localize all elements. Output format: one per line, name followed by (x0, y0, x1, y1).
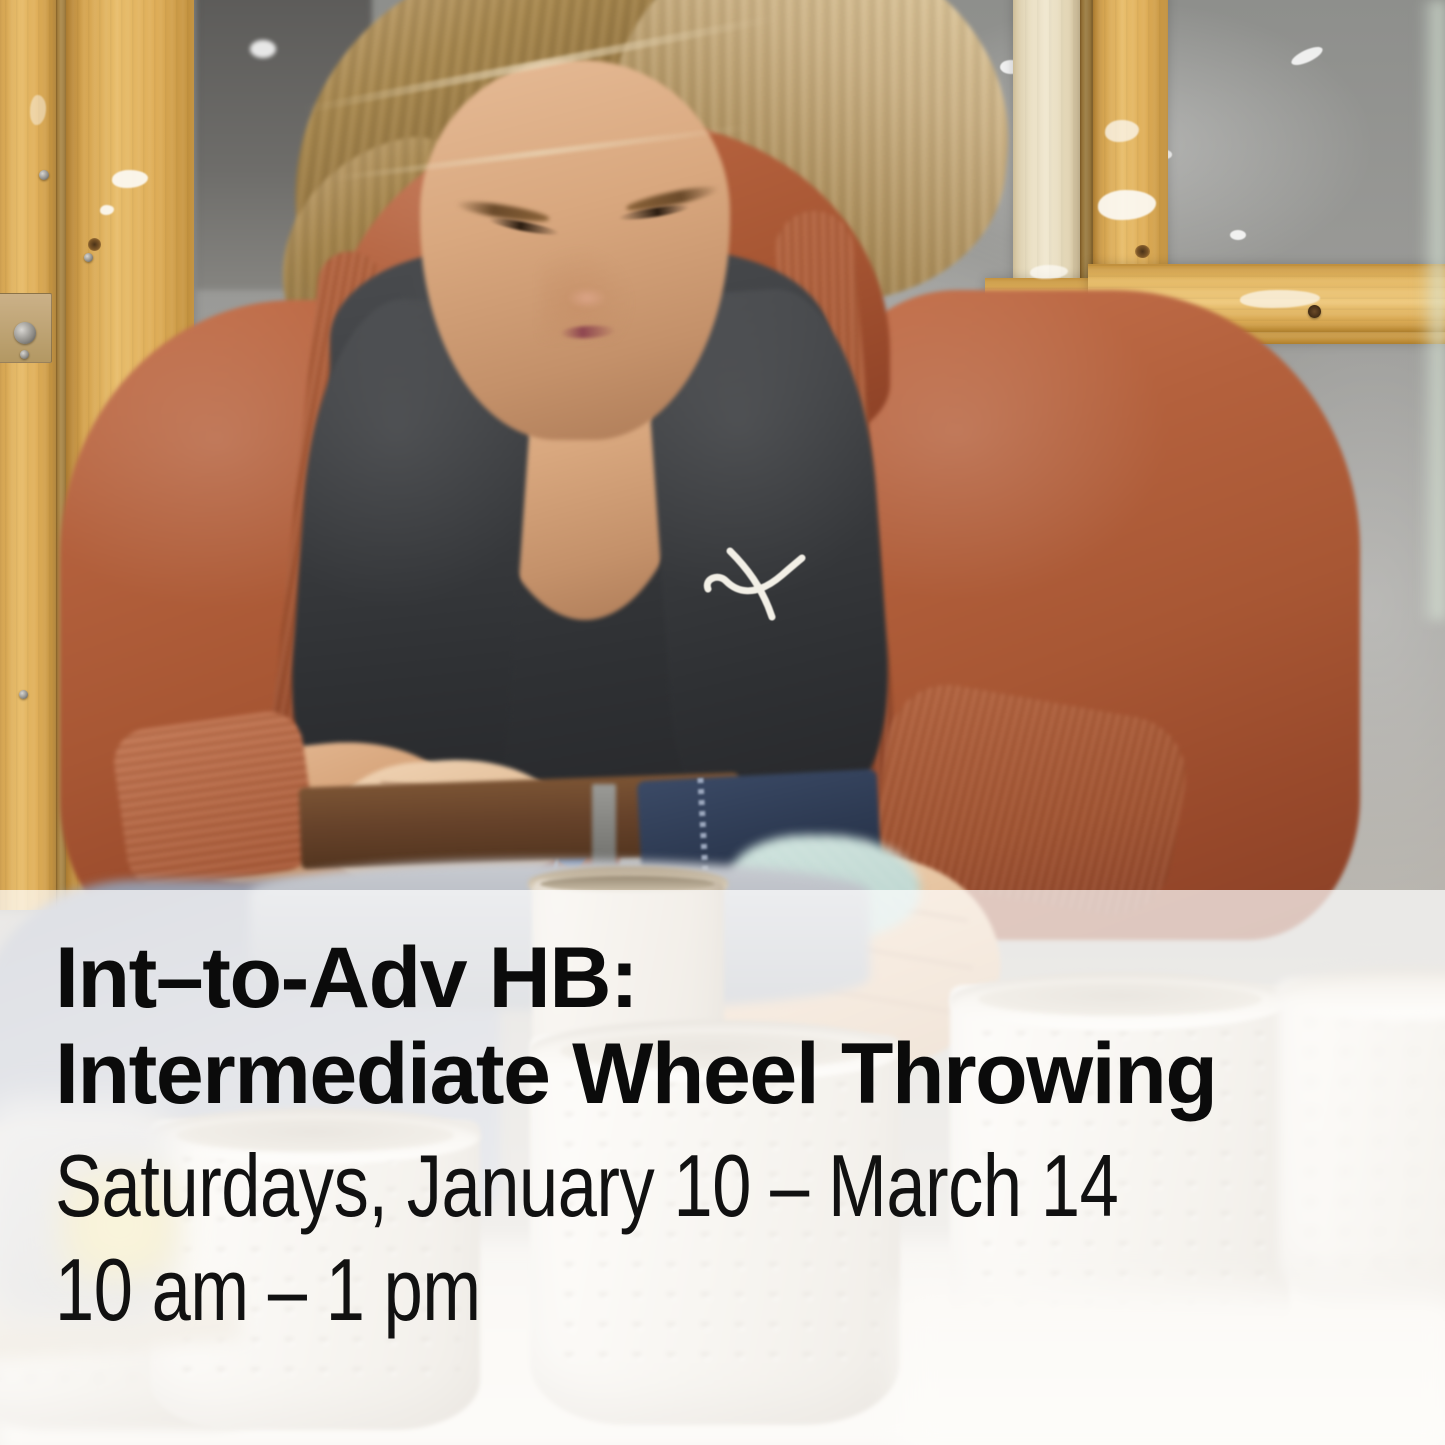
bracket-bolt (14, 322, 36, 344)
promo-poster: Int–to-Adv HB: Intermediate Wheel Throwi… (0, 0, 1445, 1445)
nose-tip (568, 288, 606, 308)
screw-head (20, 350, 29, 359)
screw-head (39, 170, 49, 180)
course-title-line-1: Int–to-Adv HB: (55, 930, 1415, 1026)
shirt-logo-icon (690, 525, 820, 635)
screw-head (84, 253, 93, 262)
wood-knot (1135, 245, 1150, 258)
text-block: Int–to-Adv HB: Intermediate Wheel Throwi… (55, 930, 1415, 1342)
left-sleeve-cuff (110, 708, 320, 893)
course-title-line-2: Intermediate Wheel Throwing (55, 1026, 1415, 1122)
clay-speck (1230, 230, 1246, 240)
wall-edge-highlight (1419, 0, 1445, 620)
clay-speck (250, 40, 276, 58)
screw-head (1308, 305, 1321, 318)
wood-stud-left-a (0, 0, 56, 910)
screw-head (19, 690, 28, 699)
course-dates: Saturdays, January 10 – March 14 (55, 1134, 1143, 1238)
wood-knot (88, 238, 101, 251)
course-time: 10 am – 1 pm (55, 1238, 1143, 1342)
belt-buckle (592, 784, 616, 870)
